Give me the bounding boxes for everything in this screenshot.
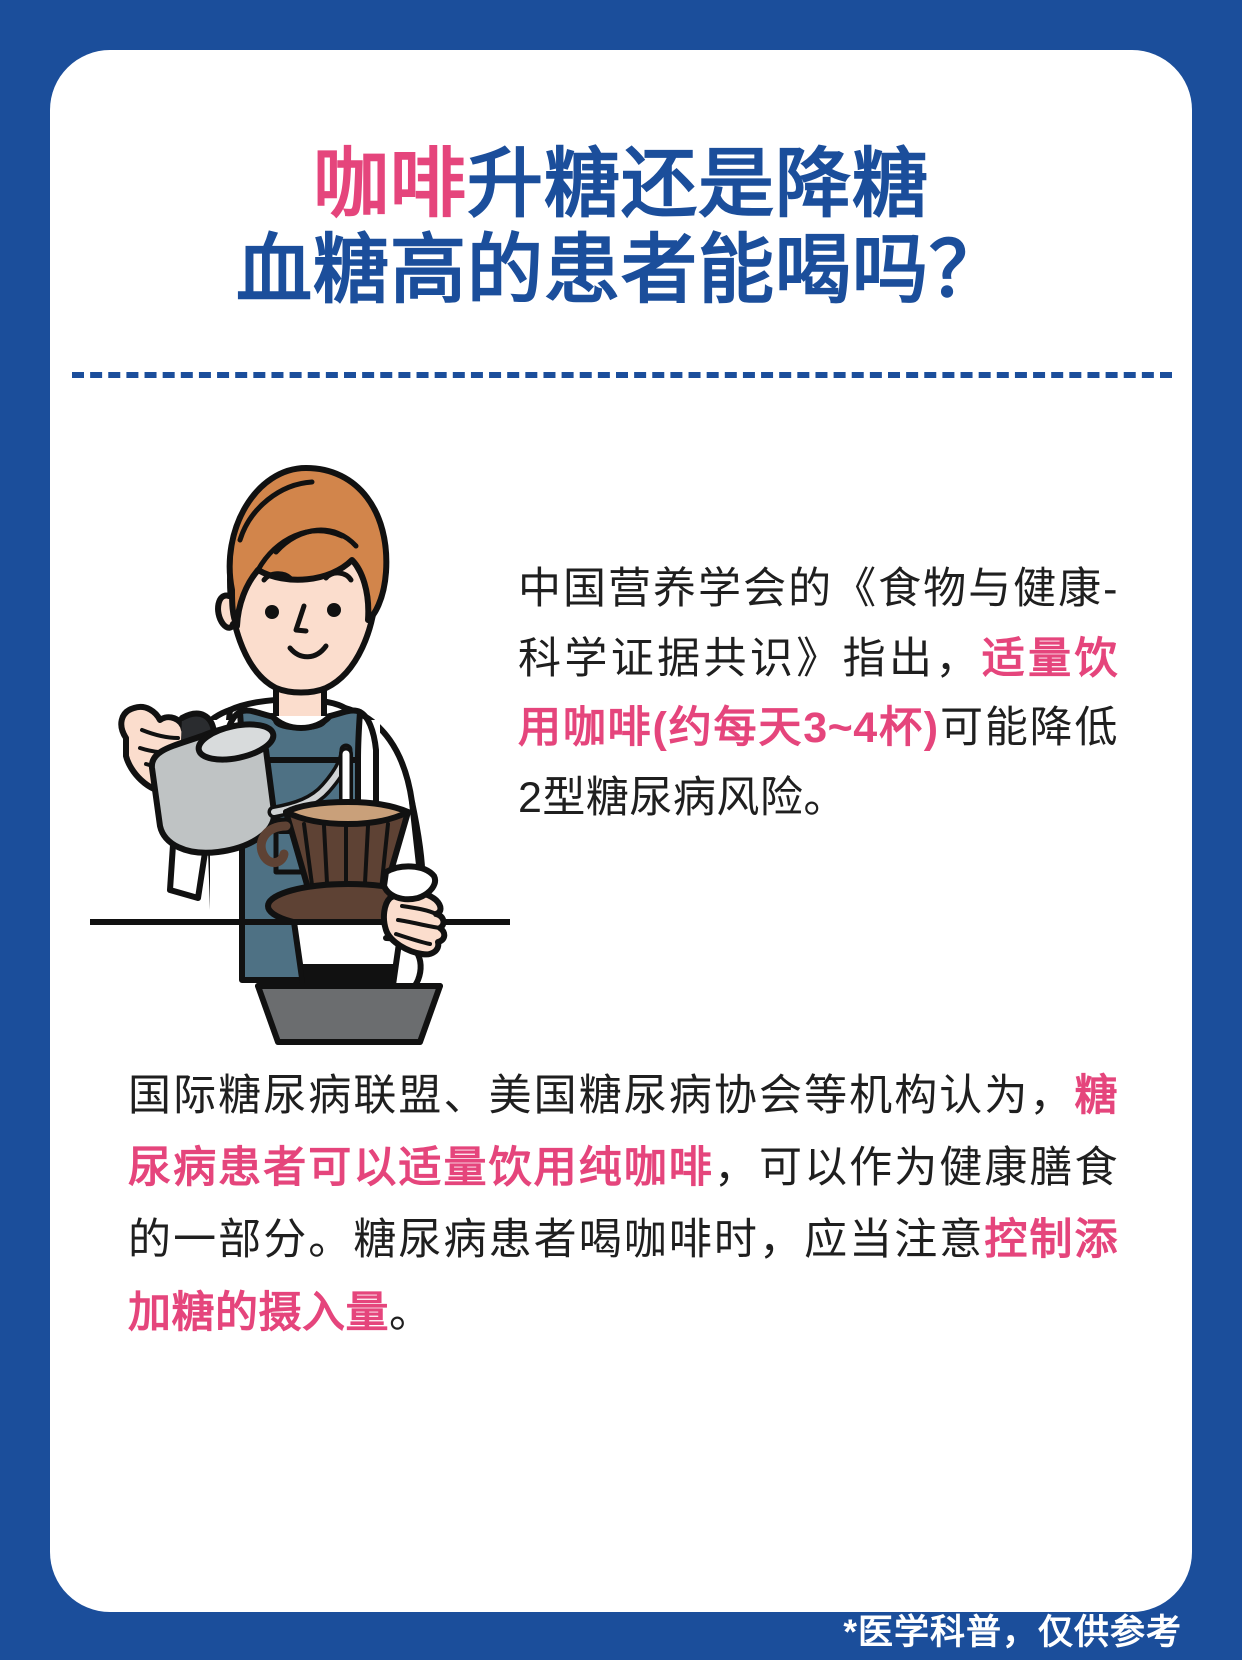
- barista-pourover-illustration: [90, 420, 510, 1060]
- footer-bar: *医学科普，仅供参考: [0, 1598, 1242, 1660]
- content-card: 咖啡升糖还是降糖 血糖高的患者能喝吗？: [50, 50, 1192, 1612]
- title-line-1: 咖啡升糖还是降糖: [50, 142, 1192, 228]
- dashed-divider: [72, 372, 1172, 378]
- footer-disclaimer: *医学科普，仅供参考: [843, 1604, 1182, 1655]
- para-bottom-seg-4: 。: [389, 1289, 433, 1337]
- para-bottom-seg-0: 国际糖尿病联盟、美国糖尿病协会等机构认为，: [128, 1072, 1075, 1120]
- title-line-2: 血糖高的患者能喝吗？: [50, 228, 1192, 314]
- title-line-1-rest: 升糖还是降糖: [467, 142, 929, 227]
- paragraph-right: 中国营养学会的《食物与健康-科学证据共识》指出，适量饮用咖啡(约每天3~4杯)可…: [518, 555, 1118, 834]
- page-title: 咖啡升糖还是降糖 血糖高的患者能喝吗？: [50, 142, 1192, 314]
- paragraph-bottom: 国际糖尿病联盟、美国糖尿病协会等机构认为，糖尿病患者可以适量饮用纯咖啡，可以作为…: [128, 1060, 1118, 1349]
- title-highlight: 咖啡: [313, 142, 467, 227]
